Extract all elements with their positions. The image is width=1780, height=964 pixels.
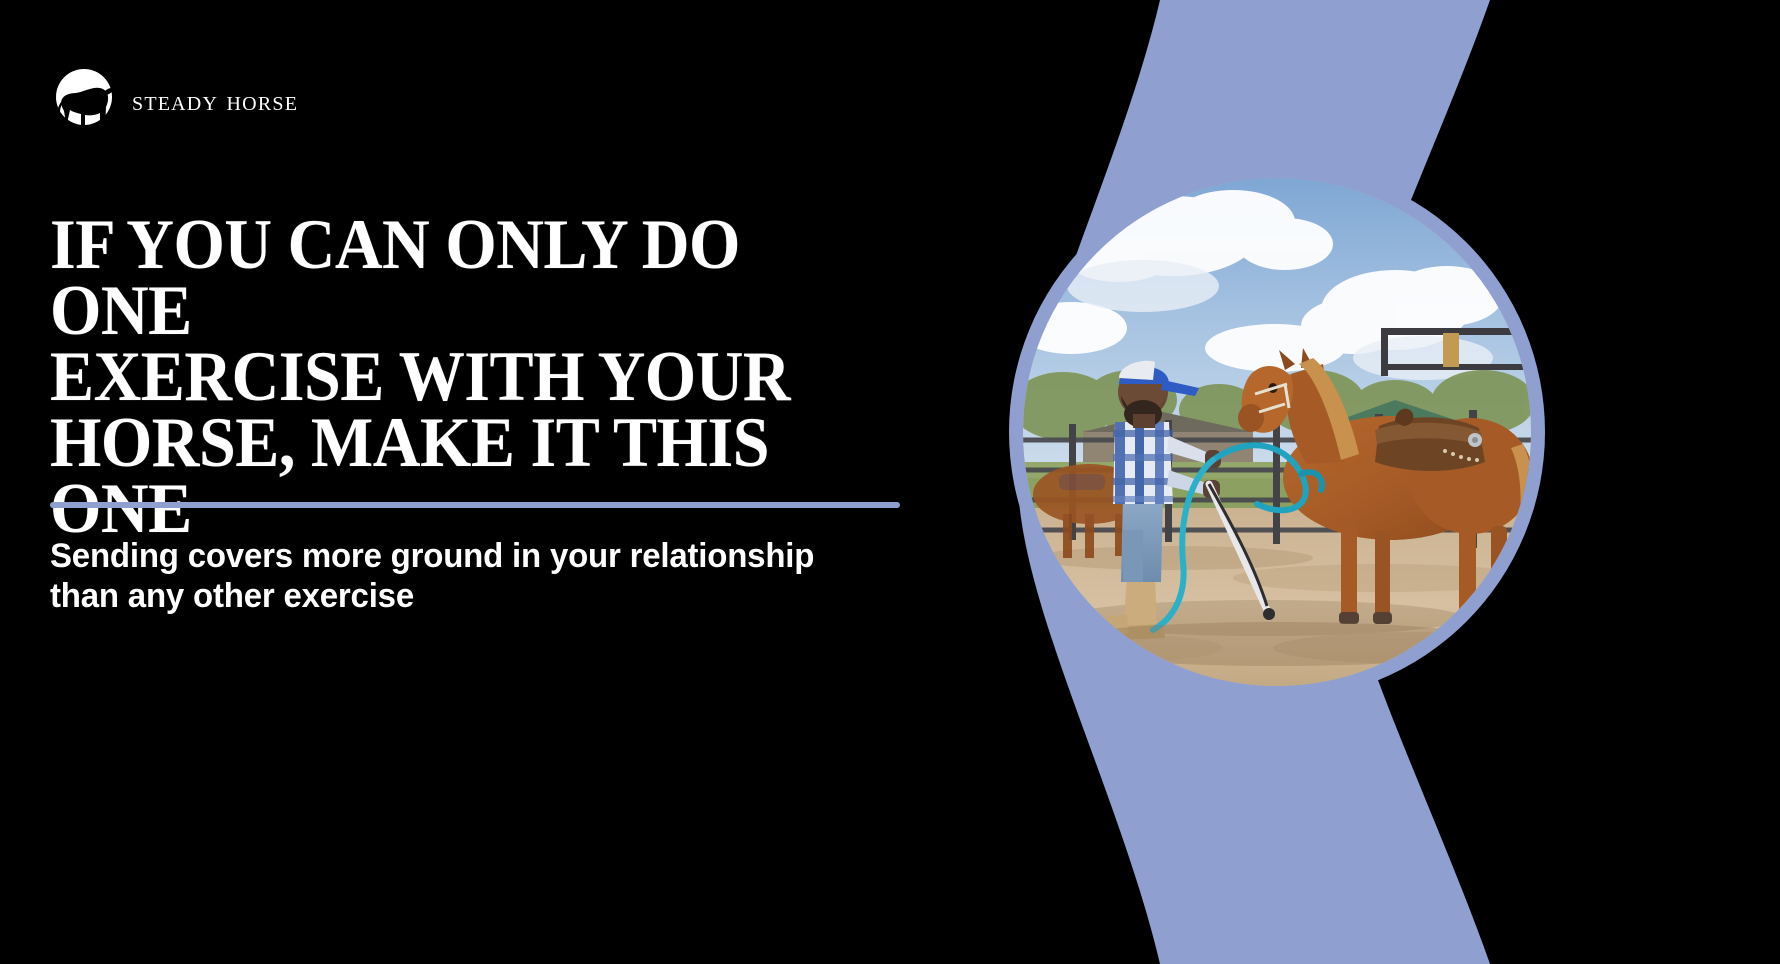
brand-wordmark: Steady Horse [132,87,298,116]
content-column: Steady Horse IF YOU CAN ONLY DO ONE EXER… [50,0,930,964]
headline-line-3: HORSE, MAKE IT THIS ONE [50,404,769,548]
hero-photo-ring [1009,164,1545,700]
horse-circle-logo-icon [50,67,118,135]
divider-rule [50,502,900,508]
headline-line-1: IF YOU CAN ONLY DO ONE [50,206,740,350]
hero-photo [1023,178,1531,686]
social-graphic-canvas: Steady Horse IF YOU CAN ONLY DO ONE EXER… [0,0,1780,964]
subtitle-line-2: than any other exercise [50,577,414,615]
subtitle: Sending covers more ground in your relat… [50,536,899,616]
brand-lockup[interactable]: Steady Horse [50,64,298,138]
page-title: IF YOU CAN ONLY DO ONE EXERCISE WITH YOU… [50,212,859,542]
subtitle-line-1: Sending covers more ground in your relat… [50,537,814,575]
